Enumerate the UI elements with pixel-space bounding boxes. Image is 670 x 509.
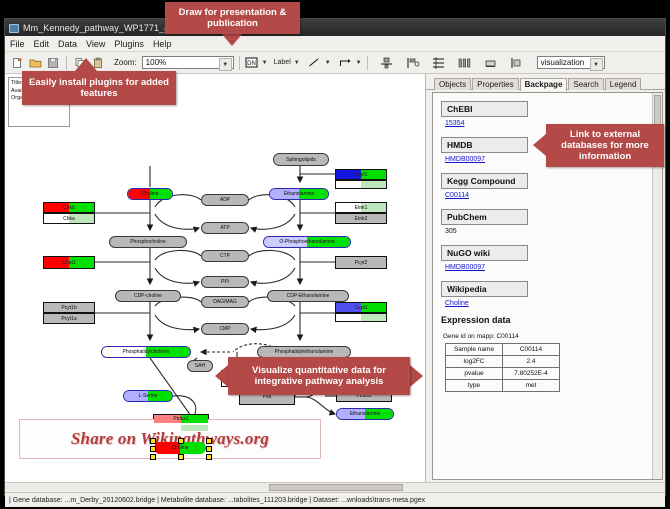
node-label: Etnk1 <box>355 205 368 211</box>
node-color-left <box>336 314 361 321</box>
node-label: L-Serine <box>139 393 158 399</box>
expr-val-3: met <box>503 380 560 392</box>
order-icon[interactable] <box>509 55 525 71</box>
selection-handle-4[interactable] <box>206 446 212 452</box>
expr-val-1: 2.4 <box>503 356 560 368</box>
selection-handle-7[interactable] <box>206 454 212 460</box>
menu-help[interactable]: Help <box>153 39 172 49</box>
canvas-horizontal-scrollbar[interactable] <box>5 482 665 492</box>
gene-node-ptdss1[interactable]: Ptdss1 <box>153 414 209 424</box>
node-color-right <box>361 181 386 188</box>
metabolite-node-cmp[interactable]: CMP <box>201 323 249 335</box>
metabolite-node-cdp-choline[interactable]: CDP-choline <box>115 290 181 302</box>
visualization-combobox[interactable]: visualization ▼ <box>537 56 605 69</box>
db-header-kegg: Kegg Compound <box>441 173 528 189</box>
menu-file[interactable]: File <box>10 39 25 49</box>
canvas-scroll-thumb[interactable] <box>269 484 403 491</box>
title-bar: Mm_Kennedy_pathway_WP1771_45176.gpml <box>5 19 665 36</box>
toolbar-separator-3 <box>367 56 368 70</box>
datanode-tool-icon[interactable]: DN <box>245 55 259 71</box>
callout-draw-arrow <box>221 33 243 46</box>
node-label: Ethanolamine <box>350 411 381 417</box>
gene-node-sgpl1b[interactable] <box>335 180 387 189</box>
db-header-pubchem: PubChem <box>441 209 528 225</box>
node-label: Pcyt1b <box>61 305 76 311</box>
callout-plugins: Easily install plugins for added feature… <box>22 71 176 105</box>
metabolite-node-ethanolamine-top[interactable]: Ethanolamine <box>269 188 329 200</box>
panel-tabs: Objects Properties Backpage Search Legen… <box>426 74 665 90</box>
gene-node-chka[interactable]: Chka <box>43 213 95 224</box>
expr-key-2: pvalue <box>446 368 503 380</box>
zoom-label: Zoom: <box>114 58 137 67</box>
tab-search[interactable]: Search <box>568 78 603 90</box>
node-label: Choline <box>172 445 189 451</box>
gene-node-sgpl1[interactable]: Sgpl1 <box>335 169 387 180</box>
tab-objects[interactable]: Objects <box>434 78 471 90</box>
chevron-down-icon-2[interactable]: ▼ <box>590 58 603 71</box>
gene-node-pcyt1b[interactable]: Pcyt1b <box>43 302 95 313</box>
callout-visualize-arrow <box>215 365 228 387</box>
distribute-icon[interactable] <box>457 55 473 71</box>
expression-data-heading: Expression data <box>441 315 662 325</box>
datanode-dropdown-icon[interactable]: ▼ <box>262 60 268 66</box>
gene-node-pcyt2[interactable]: Pcyt2 <box>335 256 387 269</box>
align-left-icon[interactable] <box>405 55 421 71</box>
gene-node-cept1[interactable]: Cept1 <box>335 302 387 313</box>
metabolite-node-dagmag[interactable]: DAG/MAG <box>201 296 249 308</box>
node-label: Chpt1 <box>62 260 75 266</box>
metabolite-node-choline-top[interactable]: Choline <box>127 188 173 200</box>
line-tool-icon[interactable] <box>306 55 322 71</box>
db-header-hmdb: HMDB <box>441 137 528 153</box>
metabolite-node-cdp-ethanolamine[interactable]: CDP-Ethanolamine <box>267 290 349 302</box>
tab-legend[interactable]: Legend <box>605 78 642 90</box>
status-bar: | Gene database: ...m_Derby_20120602.bri… <box>5 492 665 507</box>
node-color-left <box>154 425 181 431</box>
node-label: Chka <box>63 216 75 222</box>
menu-bar: File Edit Data View Plugins Help <box>5 36 665 52</box>
menu-data[interactable]: Data <box>58 39 77 49</box>
zoom-combobox[interactable]: 100% ▼ <box>142 56 234 69</box>
toolbar-separator-2 <box>239 56 240 70</box>
selection-handle-0[interactable] <box>150 438 156 444</box>
node-label: ADP <box>220 197 230 203</box>
label-dropdown-icon[interactable]: ▼ <box>294 60 300 66</box>
node-label: Phosphocholine <box>130 239 166 245</box>
menu-plugins[interactable]: Plugins <box>114 39 144 49</box>
db-link-wikipedia[interactable]: Choline <box>445 300 662 307</box>
selection-handle-2[interactable] <box>206 438 212 444</box>
gene-node-ptdss1b[interactable] <box>153 424 209 432</box>
metabolite-node-l-serine-left[interactable]: L-Serine <box>123 390 173 402</box>
callout-links: Link to external databases for more info… <box>546 124 664 167</box>
metabolite-node-atp[interactable]: ATP <box>201 222 249 234</box>
node-label: Ethanolamine <box>284 191 315 197</box>
new-file-icon[interactable] <box>9 55 25 71</box>
metabolite-node-sah[interactable]: SAH <box>187 360 213 372</box>
table-row: pvalue 7.80252E-4 <box>446 368 560 380</box>
gene-node-cept1b[interactable] <box>335 313 387 322</box>
db-link-nugo[interactable]: HMDB00097 <box>445 264 662 271</box>
tab-properties[interactable]: Properties <box>472 78 518 90</box>
node-label: Phosphatidylcholines <box>123 349 170 355</box>
zoom-value: 100% <box>146 58 166 67</box>
connector-tool-icon[interactable] <box>337 55 353 71</box>
node-color-left <box>336 181 361 188</box>
metabolite-node-phosphocholine[interactable]: Phosphocholine <box>109 236 187 248</box>
node-label: Phosphatidylethanolamine <box>275 349 334 355</box>
metabolite-node-adp[interactable]: ADP <box>201 194 249 206</box>
metabolite-node-ethanolamine-right[interactable]: Ethanolamine <box>336 408 394 420</box>
selection-handle-6[interactable] <box>178 454 184 460</box>
node-label: SAH <box>195 363 205 369</box>
chevron-down-icon[interactable]: ▼ <box>219 58 232 71</box>
node-label: Etnk2 <box>355 216 368 222</box>
node-label: Sphingolipids <box>286 157 316 163</box>
node-label: CMP <box>219 326 230 332</box>
app-icon <box>8 22 19 33</box>
menu-edit[interactable]: Edit <box>34 39 50 49</box>
save-disk-icon[interactable] <box>45 55 61 71</box>
expr-key-0: Sample name <box>446 344 503 356</box>
expression-table: Sample name C00114 log2FC 2.4 pvalue 7.8… <box>445 343 560 392</box>
visualization-value: visualization <box>541 58 585 67</box>
status-text: | Gene database: ...m_Derby_20120602.bri… <box>9 497 425 504</box>
metabolite-node-sphingolipids[interactable]: Sphingolipids <box>273 153 329 166</box>
metabolite-node-o-phosphoethanolamine[interactable]: O-Phosphoethanolamine <box>263 236 351 248</box>
gene-node-etnk1[interactable]: Etnk1 <box>335 202 387 213</box>
open-folder-icon[interactable] <box>27 55 43 71</box>
selection-handle-5[interactable] <box>150 454 156 460</box>
tab-backpage[interactable]: Backpage <box>520 78 568 91</box>
svg-text:DN: DN <box>247 61 256 67</box>
node-label: Cept1 <box>354 305 367 311</box>
gene-node-etnk2[interactable]: Etnk2 <box>335 213 387 224</box>
node-label: O-Phosphoethanolamine <box>279 239 334 245</box>
node-label: CDP-Ethanolamine <box>287 293 330 299</box>
node-color-right <box>181 425 208 431</box>
line-dropdown-icon[interactable]: ▼ <box>325 60 331 66</box>
node-label: ATP <box>220 225 229 231</box>
table-row: log2FC 2.4 <box>446 356 560 368</box>
expr-key-3: type <box>446 380 503 392</box>
screenshot-root: Mm_Kennedy_pathway_WP1771_45176.gpml Fil… <box>0 0 670 509</box>
node-label: CDP-choline <box>134 293 162 299</box>
callout-visualize: Visualize quantitative data for integrat… <box>228 357 410 395</box>
node-label: Ptdss1 <box>173 416 188 422</box>
db-header-wikipedia: Wikipedia <box>441 281 528 297</box>
node-color-right <box>361 314 386 321</box>
node-label: Chkb <box>63 205 75 211</box>
expr-val-2: 7.80252E-4 <box>503 368 560 380</box>
callout-visualize-arrow-2 <box>410 365 423 387</box>
node-label: PPi <box>221 279 229 285</box>
table-row: Sample name C00114 <box>446 344 560 356</box>
menu-view[interactable]: View <box>86 39 105 49</box>
group-icon[interactable] <box>483 55 499 71</box>
gene-id-on-mapp: Gene id on mapp: C00114 <box>443 333 662 340</box>
db-link-kegg[interactable]: C00114 <box>445 192 662 199</box>
gene-node-pcyt1a[interactable]: Pcyt1a <box>43 313 95 324</box>
selection-handle-3[interactable] <box>150 446 156 452</box>
callout-draw: Draw for presentation & publication <box>165 2 300 34</box>
callout-plugins-arrow <box>75 58 97 71</box>
db-header-nugo: NuGO wiki <box>441 245 528 261</box>
node-label: Choline <box>142 191 159 197</box>
node-label: Sgpl1 <box>355 172 368 178</box>
node-label: CTP <box>220 253 230 259</box>
table-row: type met <box>446 380 560 392</box>
expr-val-0: C00114 <box>503 344 560 356</box>
node-label: DAG/MAG <box>213 299 237 305</box>
callout-links-arrow <box>533 134 546 156</box>
align-top-icon[interactable] <box>379 55 395 71</box>
gene-node-chpt1[interactable]: Chpt1 <box>43 256 95 269</box>
node-label: Pcyt2 <box>355 260 368 266</box>
stack-icon[interactable] <box>431 55 447 71</box>
gene-node-chkb[interactable]: Chkb <box>43 202 95 213</box>
node-label: Pcyt1a <box>61 316 76 322</box>
db-value-pubchem: 305 <box>445 228 662 235</box>
db-header-chebi: ChEBI <box>441 101 528 117</box>
label-tool-label[interactable]: Label <box>274 59 291 66</box>
metabolite-node-ctp[interactable]: CTP <box>201 250 249 262</box>
toolbar-separator <box>66 56 67 70</box>
selection-handle-1[interactable] <box>178 438 184 444</box>
metabolite-node-phosphatidylcholines[interactable]: Phosphatidylcholines <box>101 346 191 358</box>
pathway-canvas[interactable]: Title: Availa Organ <box>5 74 426 482</box>
expr-key-1: log2FC <box>446 356 503 368</box>
metabolite-node-ppi[interactable]: PPi <box>201 276 249 288</box>
connector-dropdown-icon[interactable]: ▼ <box>356 60 362 66</box>
